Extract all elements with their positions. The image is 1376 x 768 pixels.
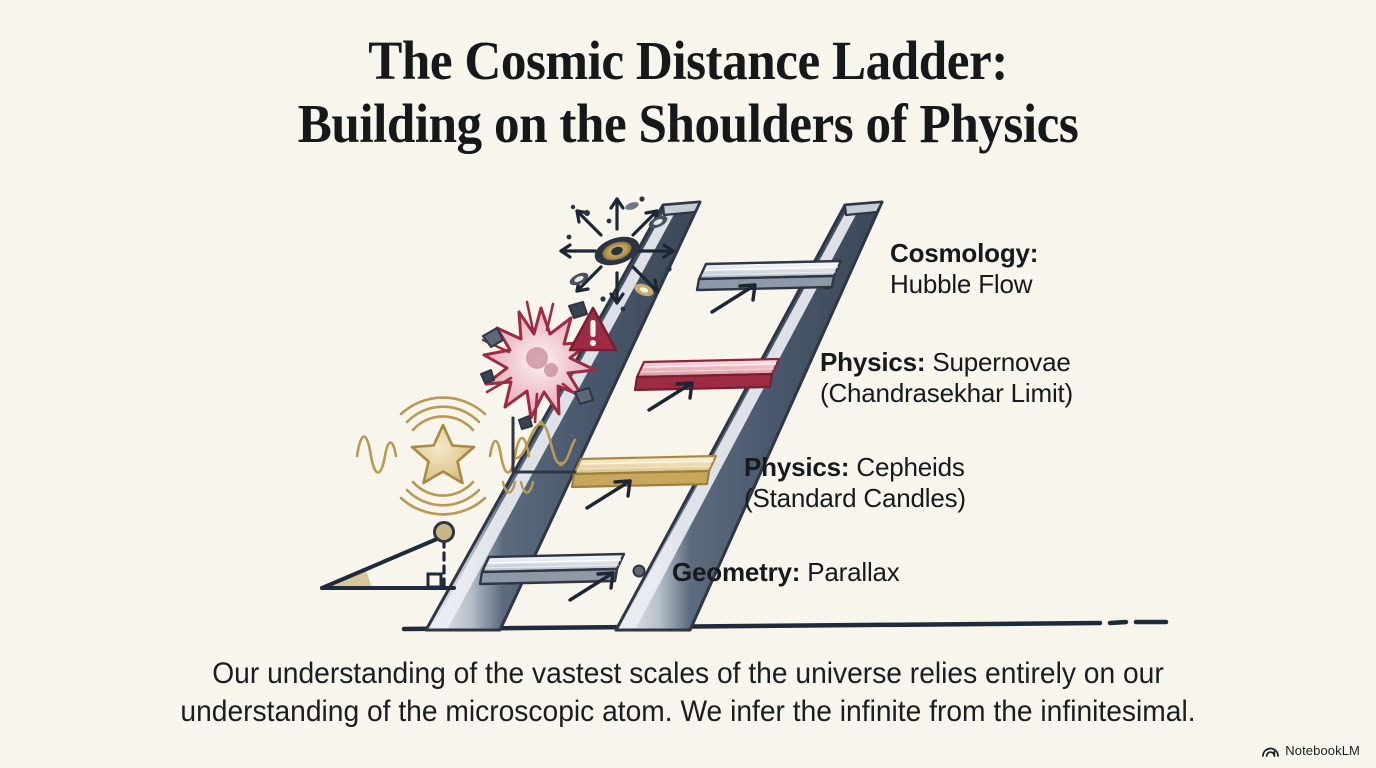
stage-lead-supernovae: Physics: [820,347,925,377]
stage-label-cepheids-line2: (Standard Candles) [744,483,966,514]
stage-label-parallax: Geometry: Parallax [672,557,900,588]
stage-lead-cepheids: Physics: [744,452,849,482]
caption: Our understanding of the vastest scales … [124,655,1252,731]
ladder-rung-cosmology [697,261,841,290]
stage-rest-supernovae: Supernovae [925,347,1070,377]
stage-label-cepheids: Physics: Cepheids (Standard Candles) [744,452,966,514]
ladder-rung-supernovae [635,359,779,390]
caption-line-1: Our understanding of the vastest scales … [124,655,1252,693]
notebooklm-label: NotebookLM [1285,743,1360,758]
stage-lead-parallax: Geometry: [672,557,800,587]
notebooklm-watermark: NotebookLM [1262,743,1360,758]
poster-canvas: The Cosmic Distance Ladder: Building on … [0,0,1376,768]
ground-line [404,622,1166,629]
stage-label-supernovae: Physics: Supernovae (Chandrasekhar Limit… [820,347,1073,409]
notebooklm-spiral-icon [1262,743,1279,758]
stage-rest-parallax: Parallax [800,557,899,587]
parallax-triangle-icon [322,523,454,589]
ladder-rung-cepheids [572,456,716,487]
stage-label-parallax-line1: Geometry: Parallax [672,557,900,588]
stage-rest-cepheids: Cepheids [849,452,964,482]
stage-label-cosmology-line1: Cosmology: [890,238,1038,269]
stage-label-supernovae-line2: (Chandrasekhar Limit) [820,378,1073,409]
stage-label-cosmology: Cosmology: Hubble Flow [890,238,1038,300]
caption-line-2: understanding of the microscopic atom. W… [124,693,1252,731]
stage-label-supernovae-line1: Physics: Supernovae [820,347,1073,378]
stage-label-cepheids-line1: Physics: Cepheids [744,452,966,483]
stage-lead-cosmology: Cosmology: [890,238,1038,268]
cosmic-ladder-illustration [0,0,1376,768]
stage-label-cosmology-line2: Hubble Flow [890,269,1038,300]
